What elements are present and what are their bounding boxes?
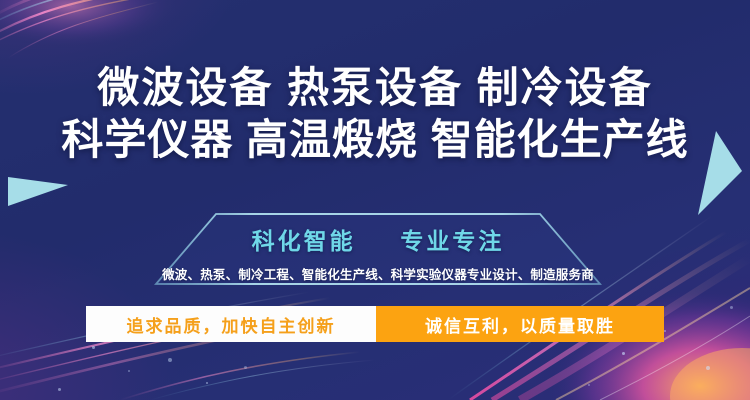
subline: 微波、热泵、制冷工程、智能化生产线、科学实验仪器专业设计、制造服务商 [148,264,608,283]
cta-left-button[interactable]: 追求品质，加快自主创新 [86,306,376,342]
cta-bar: 追求品质，加快自主创新 诚信互利，以质量取胜 [86,306,664,342]
promo-banner: 微波设备 热泵设备 制冷设备 科学仪器 高温煅烧 智能化生产线 科化智能 专业专… [0,0,750,400]
slogan: 科化智能 专业专注 [148,222,608,256]
triangle-right-icon-left [8,173,70,212]
headline-line-2: 科学仪器 高温煅烧 智能化生产线 [0,114,750,166]
slogan-right: 专业专注 [400,228,504,254]
cta-right-button[interactable]: 诚信互利，以质量取胜 [376,306,664,342]
page-title: 微波设备 热泵设备 制冷设备 科学仪器 高温煅烧 智能化生产线 [0,62,750,166]
slogan-left: 科化智能 [252,228,356,254]
headline-line-1: 微波设备 热泵设备 制冷设备 [0,62,750,114]
